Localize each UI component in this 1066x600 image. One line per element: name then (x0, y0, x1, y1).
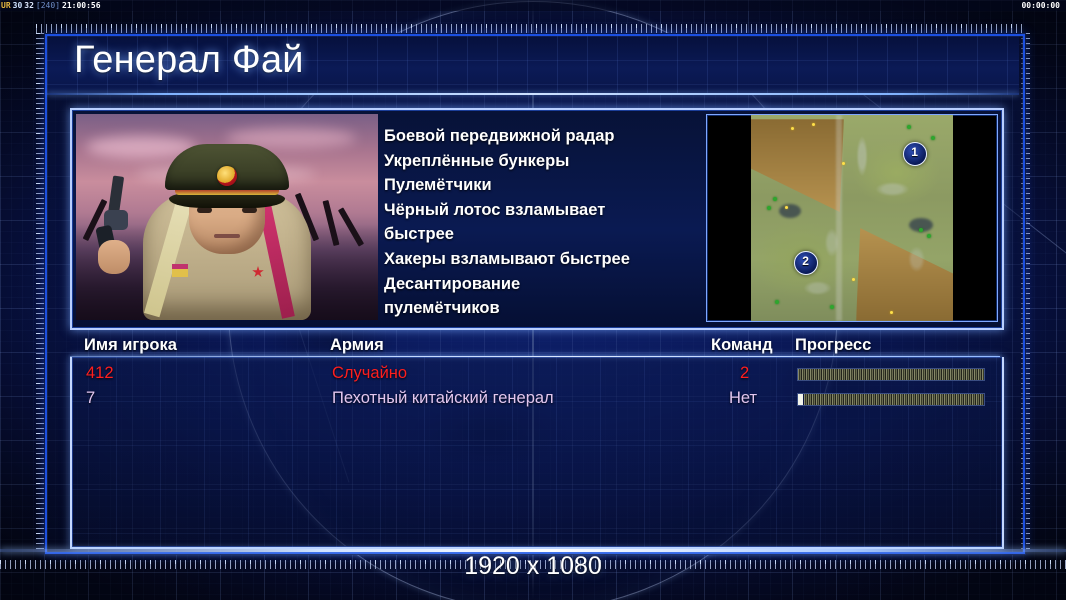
column-header-player: Имя игрока (84, 336, 177, 355)
cell-team: 2 (740, 364, 749, 383)
status-clock-right: 00:00:00 (1021, 0, 1060, 11)
portrait-hand (98, 240, 130, 274)
progress-bar (797, 393, 985, 406)
status-value-2: 32 (23, 1, 35, 10)
app-window: UR3032[240]21:00:56 00:00:00 Генерал Фай (0, 0, 1066, 600)
map-resource-tree (931, 136, 935, 140)
status-tag: UR (0, 1, 12, 10)
map-start-position-1[interactable]: 1 (903, 142, 927, 166)
map-rock (779, 204, 801, 218)
progress-bar-lead (798, 394, 803, 405)
title-divider (47, 93, 1019, 95)
map-preview-frame[interactable]: 1 2 (706, 114, 998, 322)
map-road (836, 115, 842, 321)
title-bar: Генерал Фай (47, 36, 1019, 95)
map-start-position-2[interactable]: 2 (794, 251, 818, 275)
status-bar: UR3032[240]21:00:56 00:00:00 (0, 0, 1066, 11)
general-info-panel: Боевой передвижной радар Укреплённые бун… (70, 108, 1004, 330)
column-header-team: Команд (711, 336, 773, 355)
portrait-mouth (214, 234, 240, 238)
status-bracket: [240] (35, 1, 61, 10)
resolution-label: 1920 x 1080 (0, 552, 1066, 581)
progress-bar-fill (798, 369, 984, 380)
portrait-medal (172, 264, 188, 277)
map-resource-tree (919, 228, 923, 232)
ruler-top (36, 24, 1024, 33)
map-resource-gold (852, 278, 855, 281)
portrait-cap-emblem (217, 166, 237, 186)
progress-bar (797, 368, 985, 381)
ruler-left (36, 33, 45, 553)
status-clock-left: 21:00:56 (61, 1, 102, 10)
map-resource-gold (812, 123, 815, 126)
status-value-1: 30 (12, 1, 24, 10)
cell-player-name: 412 (86, 364, 114, 383)
table-row[interactable]: 7 Пехотный китайский генерал Нет (72, 389, 1002, 413)
column-header-army: Армия (330, 336, 384, 355)
general-portrait (76, 114, 378, 320)
table-row[interactable]: 412 Случайно 2 (72, 364, 1002, 388)
cell-team: Нет (729, 389, 757, 408)
player-table-header: Имя игрока Армия Команд Прогресс (70, 336, 1000, 358)
map-resource-tree (907, 125, 911, 129)
cell-army: Случайно (332, 364, 407, 383)
map-resource-tree (830, 305, 834, 309)
player-table: 412 Случайно 2 7 Пехотный китайский гене… (70, 357, 1004, 549)
map-resource-tree (767, 206, 771, 210)
map-preview-image: 1 2 (751, 115, 953, 321)
cell-player-name: 7 (86, 389, 95, 408)
column-header-progress: Прогресс (795, 336, 871, 355)
cell-army: Пехотный китайский генерал (332, 389, 554, 408)
progress-bar-fill (804, 394, 984, 405)
page-title: Генерал Фай (74, 39, 304, 82)
